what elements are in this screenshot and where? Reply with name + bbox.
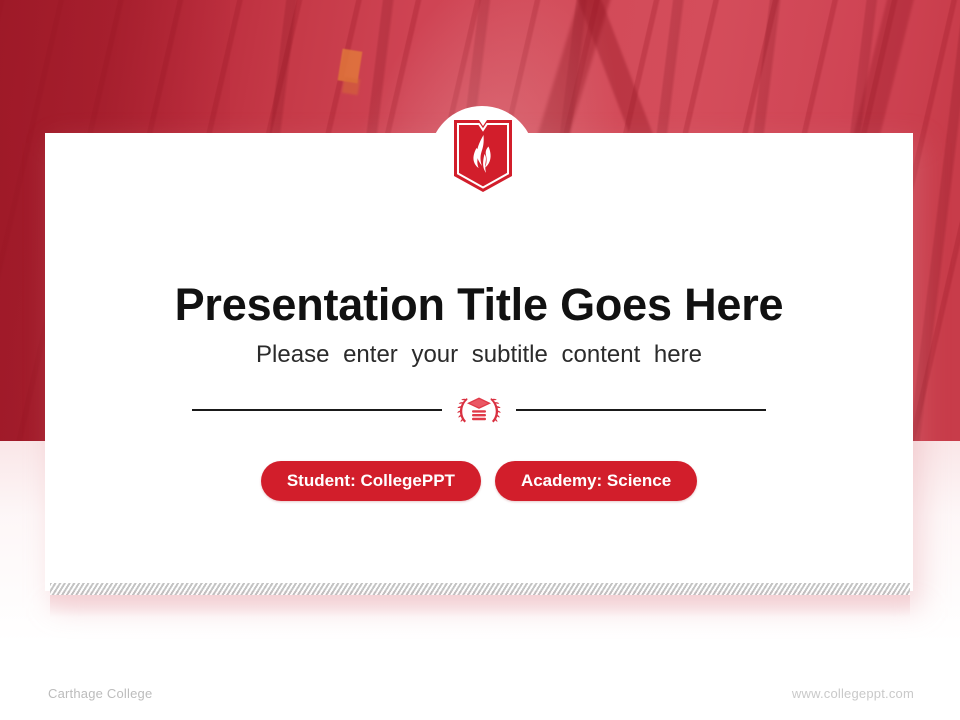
book-flame-shield-icon [452, 118, 514, 194]
footer-institution-label: Carthage College [48, 686, 152, 701]
divider [45, 390, 913, 430]
banner-amber-accent-secondary [342, 77, 360, 95]
status-badge-academy[interactable]: Academy: Science [495, 461, 697, 501]
card-bottom-hatch-strip [50, 583, 910, 595]
divider-rule-left [192, 409, 442, 411]
footer-website-label: www.collegeppt.com [792, 686, 914, 701]
page-title: Presentation Title Goes Here [45, 278, 913, 332]
badge-group: Student: CollegePPT Academy: Science [45, 461, 913, 501]
status-badge-student[interactable]: Student: CollegePPT [261, 461, 481, 501]
graduation-cap-laurel-icon [454, 391, 504, 429]
divider-rule-right [516, 409, 766, 411]
card-bottom-glow [50, 595, 910, 617]
presentation-slide: Presentation Title Goes Here Please ente… [0, 0, 960, 720]
page-subtitle: Please enter your subtitle content here [45, 340, 913, 370]
